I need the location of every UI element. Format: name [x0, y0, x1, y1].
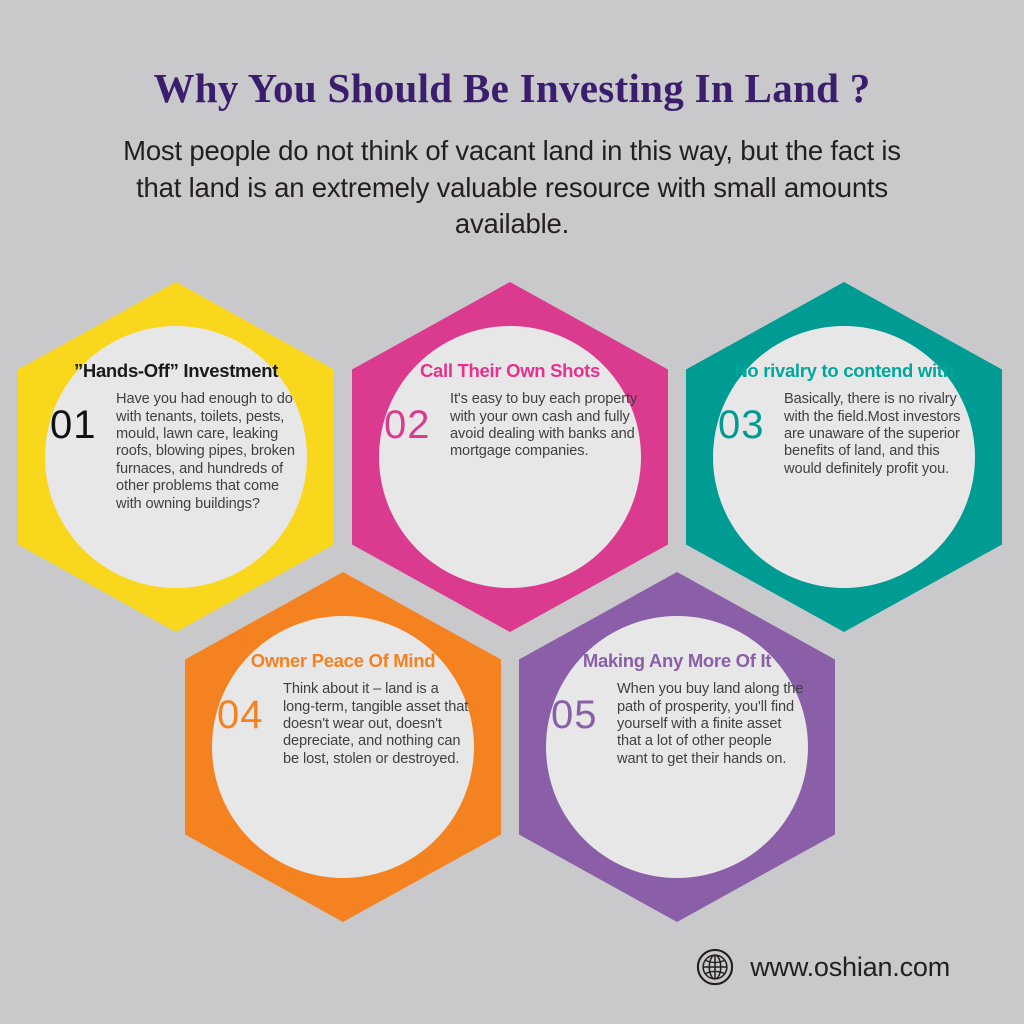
card-body-row: 05 When you buy land along the path of p… — [549, 677, 805, 768]
card-body-row: 01 Have you had enough to do with tenant… — [48, 387, 304, 513]
card-number: 05 — [549, 677, 617, 735]
card-number: 03 — [716, 387, 784, 445]
footer-url[interactable]: www.oshian.com — [750, 952, 950, 983]
hex-card-03[interactable]: No rivalry to contend with 03 Basically,… — [686, 282, 1002, 632]
card-text: Basically, there is no rivalry with the … — [784, 387, 972, 478]
card-heading: Making Any More Of It — [583, 651, 771, 671]
card-text: It's easy to buy each property with your… — [450, 387, 638, 460]
hex-card-content: ”Hands-Off” Investment 01 Have you had e… — [48, 329, 304, 585]
card-heading: No rivalry to contend with — [734, 361, 953, 381]
hex-card-content: Owner Peace Of Mind 04 Think about it – … — [215, 619, 471, 875]
hex-card-01[interactable]: ”Hands-Off” Investment 01 Have you had e… — [18, 282, 334, 632]
card-body-row: 04 Think about it – land is a long-term,… — [215, 677, 471, 768]
hex-card-content: Making Any More Of It 05 When you buy la… — [549, 619, 805, 875]
globe-icon — [696, 948, 734, 986]
card-body-row: 02 It's easy to buy each property with y… — [382, 387, 638, 460]
card-text: Think about it – land is a long-term, ta… — [283, 677, 471, 768]
card-number: 01 — [48, 387, 116, 445]
footer: www.oshian.com — [0, 948, 1024, 986]
card-body-row: 03 Basically, there is no rivalry with t… — [716, 387, 972, 478]
hex-card-content: No rivalry to contend with 03 Basically,… — [716, 329, 972, 585]
card-text: When you buy land along the path of pros… — [617, 677, 805, 768]
card-heading: Call Their Own Shots — [420, 361, 600, 381]
hexagon-grid: ”Hands-Off” Investment 01 Have you had e… — [0, 0, 1024, 1024]
hex-card-02[interactable]: Call Their Own Shots 02 It's easy to buy… — [352, 282, 668, 632]
card-number: 02 — [382, 387, 450, 445]
card-heading: Owner Peace Of Mind — [251, 651, 436, 671]
card-heading: ”Hands-Off” Investment — [74, 361, 278, 381]
card-number: 04 — [215, 677, 283, 735]
card-text: Have you had enough to do with tenants, … — [116, 387, 304, 513]
hex-card-content: Call Their Own Shots 02 It's easy to buy… — [382, 329, 638, 585]
